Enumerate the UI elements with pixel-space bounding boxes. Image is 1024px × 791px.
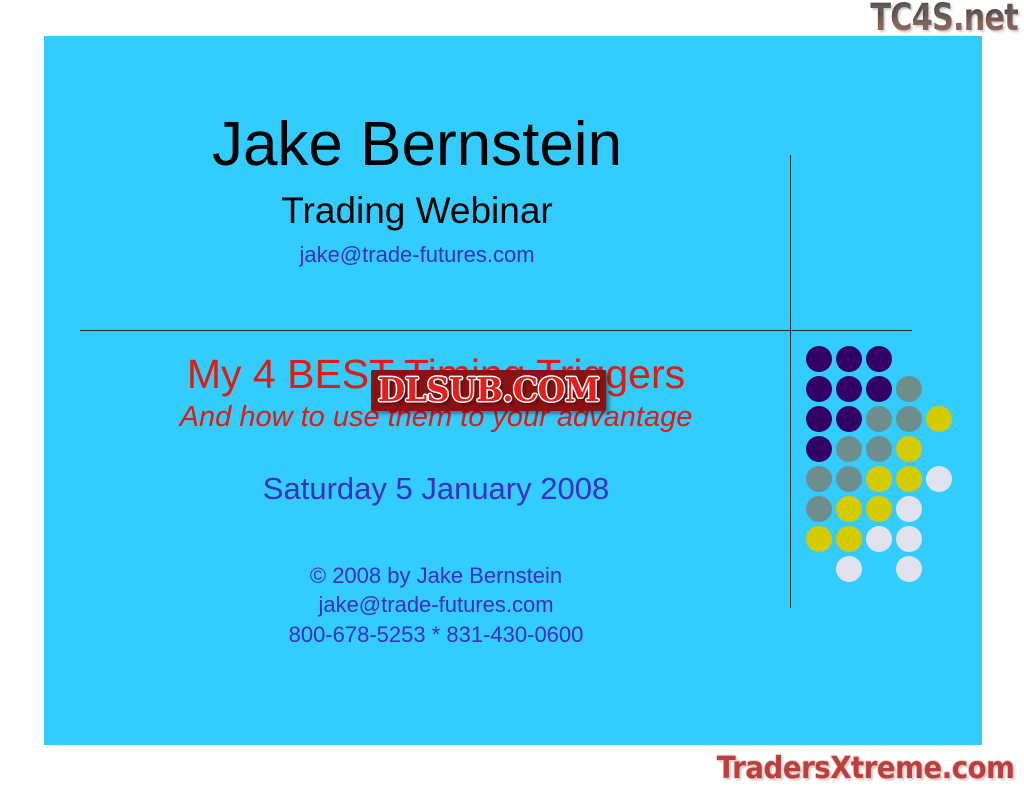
grid-dot — [866, 466, 892, 492]
footer-phones: 800-678-5253 * 831-430-0600 — [80, 620, 792, 649]
decorative-dot-grid — [806, 346, 966, 586]
grid-dot — [866, 496, 892, 522]
grid-dot — [866, 346, 892, 372]
grid-dot — [806, 436, 832, 462]
site-watermark-bottom: TradersXtreme.com — [716, 752, 1014, 785]
grid-dot — [896, 376, 922, 402]
grid-dot — [926, 406, 952, 432]
slide-date: Saturday 5 January 2008 — [80, 472, 792, 506]
footer-copyright: © 2008 by Jake Bernstein — [80, 561, 792, 590]
grid-dot — [806, 526, 832, 552]
grid-dot — [836, 466, 862, 492]
grid-dot — [836, 436, 862, 462]
grid-dot — [806, 406, 832, 432]
overlay-watermark: DLSUB.COM — [371, 370, 606, 411]
grid-dot — [896, 406, 922, 432]
grid-dot — [926, 466, 952, 492]
slide-title: Jake Bernstein — [44, 112, 790, 177]
grid-dot — [866, 406, 892, 432]
grid-dot — [836, 496, 862, 522]
grid-dot — [836, 556, 862, 582]
grid-dot — [806, 346, 832, 372]
grid-dot — [836, 526, 862, 552]
grid-dot — [836, 346, 862, 372]
grid-dot — [866, 436, 892, 462]
site-watermark-top: TC4S.net — [870, 0, 1018, 39]
slide-footer: © 2008 by Jake Bernstein jake@trade-futu… — [80, 561, 792, 649]
grid-dot — [866, 376, 892, 402]
grid-dot — [896, 496, 922, 522]
header-email: jake@trade-futures.com — [44, 243, 790, 267]
presentation-slide: Jake Bernstein Trading Webinar jake@trad… — [44, 36, 982, 745]
page-canvas: TC4S.net Jake Bernstein Trading Webinar … — [0, 0, 1024, 791]
grid-dot — [896, 436, 922, 462]
footer-email: jake@trade-futures.com — [80, 590, 792, 619]
grid-dot — [896, 466, 922, 492]
grid-dot — [896, 526, 922, 552]
grid-dot — [836, 406, 862, 432]
horizontal-divider — [80, 330, 912, 331]
grid-dot — [836, 376, 862, 402]
grid-dot — [896, 556, 922, 582]
grid-dot — [806, 496, 832, 522]
slide-subtitle: Trading Webinar — [44, 191, 790, 232]
grid-dot — [866, 526, 892, 552]
grid-dot — [806, 376, 832, 402]
grid-dot — [806, 466, 832, 492]
